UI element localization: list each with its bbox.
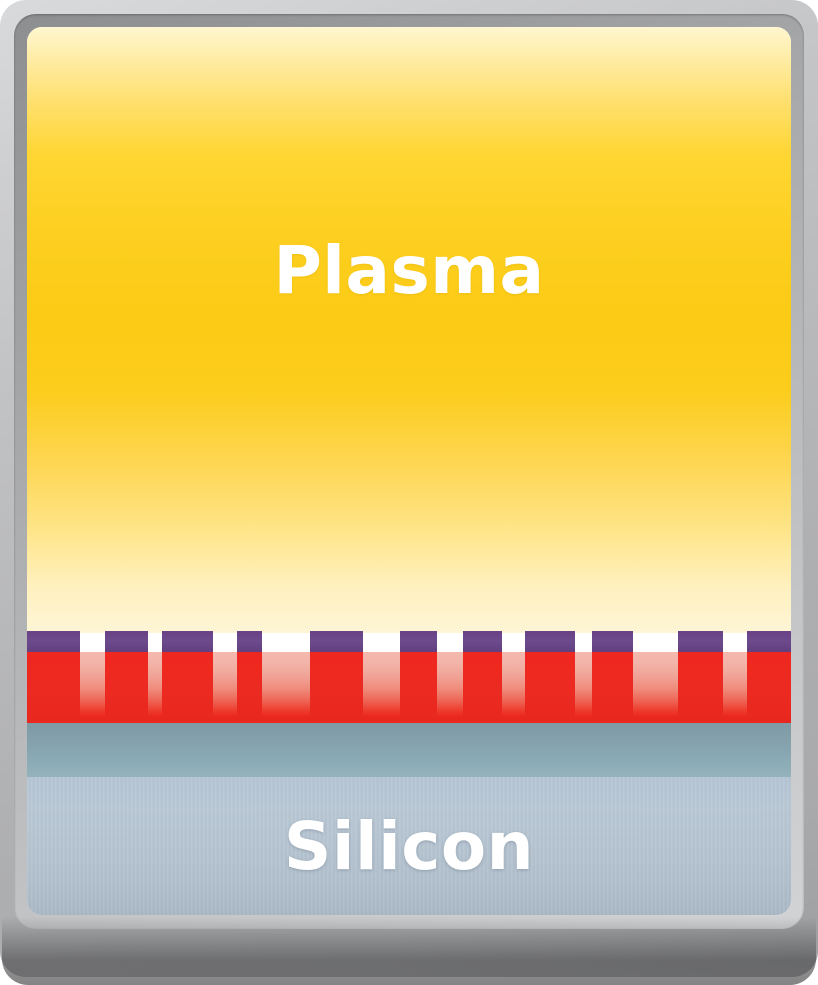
mask-bar: [463, 631, 502, 653]
oxide-layer: [27, 723, 791, 777]
etch-trench: [575, 652, 592, 716]
mask-bar: [105, 631, 148, 653]
etch-trench: [80, 652, 105, 716]
etch-trench: [262, 652, 310, 716]
mask-bar: [310, 631, 363, 653]
photoresist-layer: [27, 652, 791, 723]
silicon-label: Silicon: [27, 777, 791, 915]
etch-trench: [363, 652, 400, 716]
mask-bar-row: [27, 631, 791, 653]
etch-trench: [633, 652, 678, 716]
mask-bar: [162, 631, 213, 653]
mask-bar: [400, 631, 437, 653]
mask-bar: [678, 631, 723, 653]
silicon-layer: Silicon: [27, 777, 791, 915]
device-bezel: Plasma Silicon: [0, 0, 818, 977]
mask-bar: [747, 631, 791, 653]
etch-trench: [213, 652, 237, 716]
mask-bar: [592, 631, 633, 653]
mask-bar: [237, 631, 262, 653]
etch-trench: [437, 652, 463, 716]
etch-trench: [723, 652, 747, 716]
etch-trench: [502, 652, 525, 716]
mask-bar: [525, 631, 575, 653]
plasma-label: Plasma: [27, 27, 791, 573]
cross-section-panel: Plasma Silicon: [27, 27, 791, 915]
etch-trench: [148, 652, 162, 716]
mask-bar: [27, 631, 80, 653]
